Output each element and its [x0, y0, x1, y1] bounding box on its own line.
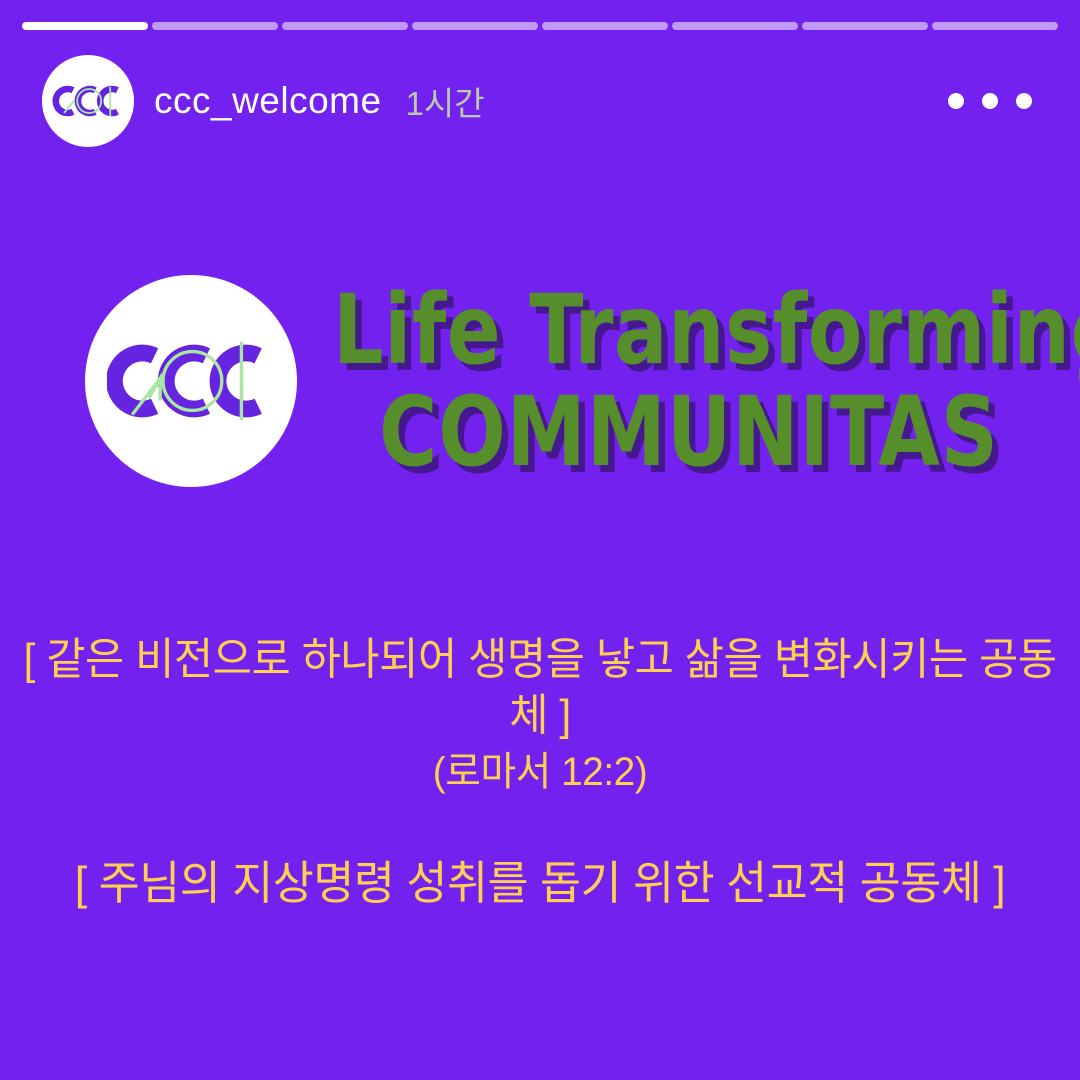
headline-line-1: Life Transforming [333, 282, 1080, 378]
caption-verse-text: (로마서 12:2) [16, 747, 1064, 798]
hero-block: Life Transforming COMMUNITAS [0, 268, 1080, 493]
more-horizontal-icon[interactable] [942, 83, 1038, 119]
headline-line-2: COMMUNITAS [379, 384, 1080, 480]
more-dot [1016, 93, 1032, 109]
ccc-logo-avatar-icon [52, 65, 124, 137]
instagram-story-canvas: ccc_welcome 1시간 [0, 0, 1080, 1080]
progress-segment[interactable] [672, 22, 798, 30]
caption-primary-text: [ 같은 비전으로 하나되어 생명을 낳고 삶을 변화시키는 공동체 ] [23, 635, 1056, 740]
progress-segment[interactable] [542, 22, 668, 30]
brand-logo [85, 275, 297, 487]
story-header: ccc_welcome 1시간 [42, 55, 1038, 147]
caption-secondary-text: [ 주님의 지상명령 성취를 돕기 위한 선교적 공동체 ] [75, 857, 1005, 909]
progress-segment[interactable] [932, 22, 1058, 30]
timestamp-label: 1시간 [406, 77, 485, 125]
caption-primary-block: [ 같은 비전으로 하나되어 생명을 낳고 삶을 변화시키는 공동체 ] (로마… [16, 632, 1064, 798]
caption-secondary-block: [ 주님의 지상명령 성취를 돕기 위한 선교적 공동체 ] [16, 855, 1064, 913]
progress-segment[interactable] [152, 22, 278, 30]
more-dot [982, 93, 998, 109]
username-label[interactable]: ccc_welcome [154, 80, 382, 122]
more-dot [948, 93, 964, 109]
avatar[interactable] [42, 55, 134, 147]
progress-segment[interactable] [802, 22, 928, 30]
progress-segment[interactable] [22, 22, 148, 30]
ccc-logo-mark-icon [107, 297, 275, 465]
progress-segment[interactable] [282, 22, 408, 30]
progress-segment[interactable] [412, 22, 538, 30]
story-progress-bar [22, 22, 1058, 30]
headline: Life Transforming COMMUNITAS [333, 282, 1080, 480]
